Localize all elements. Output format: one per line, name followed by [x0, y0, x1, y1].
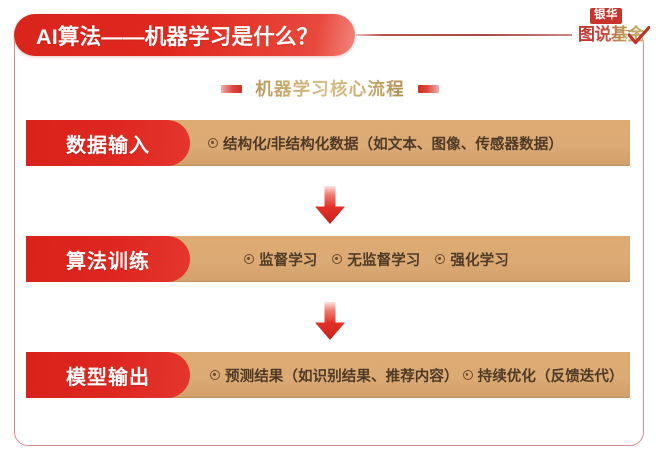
down-arrow-icon-1 — [313, 186, 347, 224]
brand-badge: 银华 — [590, 8, 622, 24]
list-item-text: 强化学习 — [450, 249, 508, 270]
flow-step-2-items: 监督学习 无监督学习 强化学习 — [190, 236, 630, 282]
target-bullet-icon — [435, 254, 445, 264]
flow-step-1-pill: 数据输入 — [26, 120, 190, 166]
target-bullet-icon — [210, 370, 220, 380]
flow-step-1-label: 数据输入 — [66, 129, 150, 158]
page-title-capsule: AI算法——机器学习是什么？ — [14, 14, 355, 56]
down-arrow-icon-2 — [313, 302, 347, 340]
list-item: 预测结果（如识别结果、推荐内容） — [210, 365, 459, 386]
target-bullet-icon — [463, 370, 473, 380]
flow-step-2-pill: 算法训练 — [26, 236, 190, 282]
check-icon — [628, 26, 650, 46]
dash-ornament-left — [221, 85, 242, 93]
flow-step-3: 模型输出 预测结果（如识别结果、推荐内容） 持续优化（反馈迭代） — [26, 352, 630, 398]
flow-step-3-label: 模型输出 — [66, 361, 150, 390]
infographic-canvas: AI算法——机器学习是什么？ 银华 图说基金 机器学习核心流程 数据输入 结构化… — [0, 0, 660, 464]
list-item-text: 结构化/非结构化数据（如文本、图像、传感器数据） — [223, 133, 563, 154]
brand-logo: 银华 图说基金 — [578, 8, 650, 56]
page-title: AI算法——机器学习是什么？ — [14, 20, 318, 51]
list-item: 无监督学习 — [332, 249, 420, 270]
target-bullet-icon — [208, 138, 218, 148]
target-bullet-icon — [244, 254, 254, 264]
list-item: 监督学习 — [244, 249, 317, 270]
section-heading: 机器学习核心流程 — [0, 76, 660, 101]
list-item-text: 无监督学习 — [347, 249, 420, 270]
section-title: 机器学习核心流程 — [255, 76, 405, 101]
flow-step-3-items: 预测结果（如识别结果、推荐内容） 持续优化（反馈迭代） — [190, 352, 630, 398]
flow-step-2: 算法训练 监督学习 无监督学习 强化学习 — [26, 236, 630, 282]
list-item-text: 持续优化（反馈迭代） — [478, 365, 624, 386]
flow-step-1-items: 结构化/非结构化数据（如文本、图像、传感器数据） — [190, 120, 630, 166]
flow-step-1: 数据输入 结构化/非结构化数据（如文本、图像、传感器数据） — [26, 120, 630, 166]
dash-ornament-right — [418, 85, 439, 93]
header-rule — [356, 34, 572, 36]
list-item: 强化学习 — [435, 249, 508, 270]
list-item-text: 预测结果（如识别结果、推荐内容） — [225, 365, 459, 386]
flow-step-2-label: 算法训练 — [66, 245, 150, 274]
list-item-text: 监督学习 — [259, 249, 317, 270]
target-bullet-icon — [332, 254, 342, 264]
list-item: 结构化/非结构化数据（如文本、图像、传感器数据） — [208, 133, 563, 154]
list-item: 持续优化（反馈迭代） — [463, 365, 624, 386]
flow-step-3-pill: 模型输出 — [26, 352, 190, 398]
